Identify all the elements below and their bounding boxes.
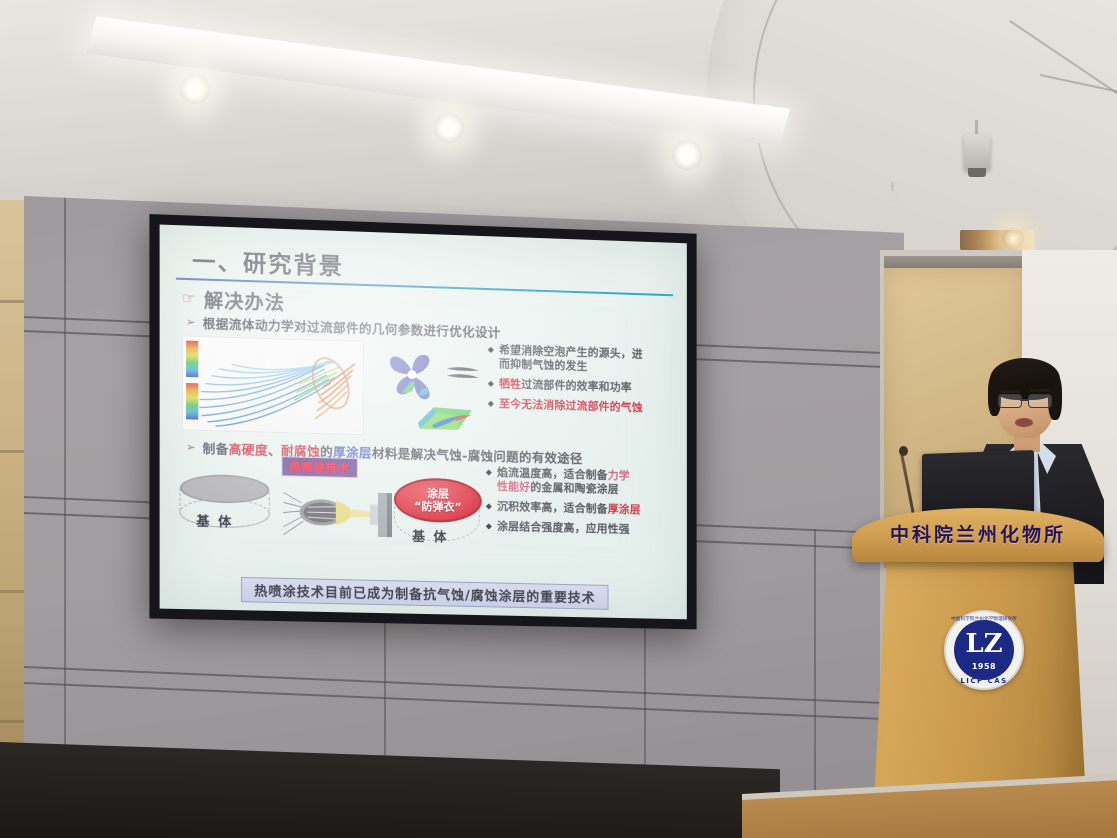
- diamond-bullet-icon: ◆: [486, 519, 492, 533]
- thermal-spray-label: 热喷涂技术: [281, 456, 358, 478]
- bullet-item: ◆ 涂层结合强度高，应用性强: [486, 519, 673, 537]
- coating-line-1: 涂层: [427, 487, 449, 501]
- diamond-bullet-icon: ◆: [488, 343, 494, 357]
- projector: [964, 134, 990, 170]
- glasses-bridge: [1020, 399, 1028, 401]
- lecture-hall-photo: 一、研究背景 ☞ 解决办法 ➢ 根据流体动力学对过流部件的几何参数进行优化设计: [0, 0, 1117, 838]
- bullet-item: ◆ 至今无法消除过流部件的气蚀: [488, 397, 673, 416]
- institution-emblem: 中国科学院兰州化学物理研究所 LZ 1958 LICP CAS: [944, 610, 1024, 690]
- substrate-label-right: 基 体: [412, 526, 448, 546]
- emblem-inner-disc: LZ 1958: [954, 620, 1014, 680]
- slide-row-1: ◆ 希望消除空泡产生的源头，进而抑制气蚀的发生 ◆ 牺牲过流部件的效率和功率 ◆…: [176, 333, 673, 448]
- bullet-text: 至今无法消除过流部件的气蚀: [499, 397, 643, 415]
- projection-screen-frame: 一、研究背景 ☞ 解决办法 ➢ 根据流体动力学对过流部件的几何参数进行优化设计: [149, 214, 696, 629]
- presentation-slide: 一、研究背景 ☞ 解决办法 ➢ 根据流体动力学对过流部件的几何参数进行优化设计: [160, 225, 687, 620]
- slide-footer-statement: 热喷涂技术目前已成为制备抗气蚀/腐蚀涂层的重要技术: [241, 577, 608, 610]
- bullet-text: 希望消除空泡产生的源头，进而抑制气蚀的发生: [499, 343, 643, 375]
- pointing-hand-icon: ☞: [182, 291, 196, 307]
- bullet-item: ◆ 希望消除空泡产生的源头，进而抑制气蚀的发生: [488, 343, 673, 377]
- diamond-bullet-icon: ◆: [486, 499, 492, 513]
- slide-section-heading: 解决办法: [204, 286, 285, 316]
- propeller-figure: [384, 346, 440, 404]
- spray-gun-schematic: [277, 482, 400, 543]
- microphone-head: [899, 446, 908, 456]
- cfd-figure-group: [176, 333, 478, 442]
- presenter-eyebrow: [1030, 389, 1050, 392]
- ceiling-spotlight: [672, 140, 702, 170]
- arrow-bullet-icon: ➢: [186, 441, 195, 456]
- ceiling: [0, 0, 1117, 232]
- bullet-text: 涂层结合强度高，应用性强: [497, 520, 630, 537]
- bullet-item: ◆ 沉积效率高，适合制备厚涂层: [486, 499, 673, 518]
- coating-line-2: “防弹衣”: [414, 500, 461, 514]
- slide-row-2: 基 体 热喷涂技术: [176, 457, 673, 561]
- ceiling-spotlight: [434, 113, 464, 143]
- thermal-spray-diagram: 基 体 热喷涂技术: [176, 457, 478, 557]
- projection-screen: 一、研究背景 ☞ 解决办法 ➢ 根据流体动力学对过流部件的几何参数进行优化设计: [160, 225, 687, 620]
- bullet-item: ◆ 焰流温度高，适合制备力学性能好的金属和陶瓷涂层: [486, 466, 673, 499]
- presenter-mouth: [1015, 418, 1033, 427]
- recessed-downlight: [960, 230, 1034, 250]
- presenter-glasses: [998, 394, 1054, 406]
- glasses-lens-right: [1028, 394, 1052, 408]
- diamond-bullet-icon: ◆: [488, 397, 494, 411]
- podium-front-header: 中科院兰州化物所: [852, 508, 1104, 562]
- podium-institution-name: 中科院兰州化物所: [852, 520, 1104, 547]
- emblem-acronym: LICP CAS: [946, 677, 1022, 685]
- bullet-item: ◆ 牺牲过流部件的效率和功率: [488, 377, 673, 396]
- slide-point-1-bullets: ◆ 希望消除空泡产生的源头，进而抑制气蚀的发生 ◆ 牺牲过流部件的效率和功率 ◆…: [484, 343, 673, 448]
- bullet-text: 沉积效率高，适合制备厚涂层: [497, 500, 641, 517]
- bullet-text: 牺牲过流部件的效率和功率: [499, 377, 632, 395]
- bullet-text: 焰流温度高，适合制备力学性能好的金属和陶瓷涂层: [497, 466, 630, 497]
- slide-point-2-bullets: ◆ 焰流温度高，适合制备力学性能好的金属和陶瓷涂层 ◆ 沉积效率高，适合制备厚涂…: [482, 465, 673, 561]
- emblem-glyph: LZ: [965, 629, 1002, 659]
- diamond-bullet-icon: ◆: [488, 377, 494, 391]
- blade-cfd-block-figure: [414, 401, 474, 437]
- arrow-bullet-icon: ➢: [186, 315, 195, 330]
- ceiling-sensor-icon: [888, 190, 898, 202]
- ceiling-spotlight: [180, 74, 210, 104]
- slide-title: 一、研究背景: [192, 242, 673, 292]
- glasses-lens-left: [998, 394, 1022, 408]
- cfd-streamline-figure: [182, 335, 364, 435]
- presenter-eyebrow: [1000, 390, 1020, 393]
- substrate-label-left: 基 体: [196, 510, 233, 530]
- diamond-bullet-icon: ◆: [486, 466, 492, 480]
- airfoil-section-figure: [446, 364, 480, 381]
- emblem-year: 1958: [954, 662, 1014, 671]
